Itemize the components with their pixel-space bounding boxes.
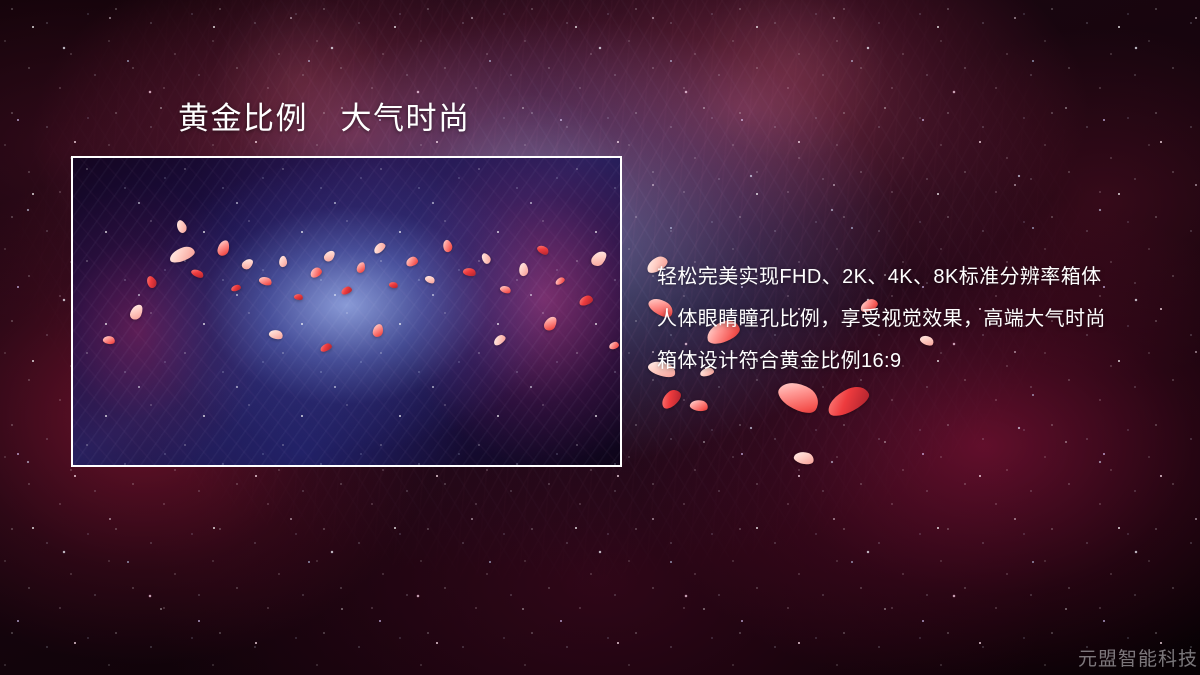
petal-shape bbox=[823, 382, 872, 420]
photo-starfield-icon bbox=[73, 158, 620, 465]
petal-shape bbox=[689, 398, 709, 413]
watermark: 元盟智能科技 bbox=[1078, 648, 1198, 672]
petal-shape bbox=[658, 387, 684, 412]
presentation-slide: 黄金比例 大气时尚 轻松完美实现FHD、2K、4K、8K标准分辨率箱体 人体眼睛… bbox=[0, 0, 1200, 675]
body-line: 人体眼睛瞳孔比例，享受视觉效果，高端大气时尚 bbox=[657, 298, 1177, 340]
slide-title: 黄金比例 大气时尚 bbox=[178, 100, 471, 138]
photo-frame bbox=[71, 156, 622, 467]
body-line: 箱体设计符合黄金比例16:9 bbox=[657, 340, 1177, 382]
body-line: 轻松完美实现FHD、2K、4K、8K标准分辨率箱体 bbox=[657, 256, 1177, 298]
petal-shape bbox=[793, 449, 816, 466]
body-text-block: 轻松完美实现FHD、2K、4K、8K标准分辨率箱体 人体眼睛瞳孔比例，享受视觉效… bbox=[657, 256, 1177, 382]
